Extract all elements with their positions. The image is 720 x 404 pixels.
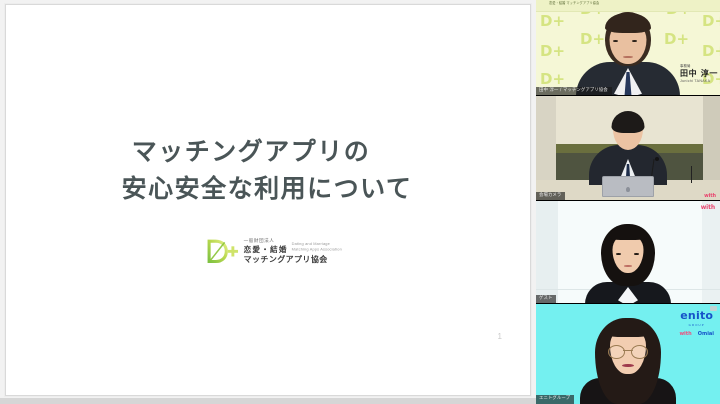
d-plus-logo-icon [206,238,239,265]
omiai-brand-logo-icon: Omiai [698,331,714,337]
eyeglasses-icon [608,345,648,357]
backdrop-logo-icon: D+ [664,32,689,47]
backdrop-logo-icon: D+ [540,44,565,59]
video-tile-2-media: with [536,96,720,201]
slide-title-line-2: 安心安全な利用について [6,170,530,207]
association-logo: 一般財団法人 恋愛・結婚 Dating and Marriage Matchin… [206,238,331,265]
tile-divider [536,303,720,304]
with-brand-logo-icon: with [701,204,715,211]
nameplate-name: 田中 淳一 [680,69,718,79]
slide-title: マッチングアプリの 安心安全な利用について [6,133,530,207]
enito-logo-text: enito [679,310,714,321]
video-tile-3[interactable]: with ゲスト [536,201,720,304]
backdrop-logo-icon: D+ [540,14,565,29]
logo-en-line-2: Matching Apps Association [292,247,342,252]
bottom-status-strip [0,398,536,404]
shared-screen-area[interactable]: マッチングアプリの 安心安全な利用について [0,0,536,404]
backdrop-logo-icon: D+ [702,44,720,59]
video-tile-4[interactable]: enito GROUP with Omiai [536,304,720,404]
tile-divider [536,95,720,96]
video-tile-2[interactable]: with 会場カメラ [536,96,720,201]
backdrop-logo-icon: D+ [702,14,720,29]
presentation-slide[interactable]: マッチングアプリの 安心安全な利用について [5,4,531,396]
enito-logo-subtext: GROUP [679,323,714,327]
with-brand-logo-icon: with [679,331,691,337]
enito-brand-lockup: enito GROUP with Omiai [679,310,714,337]
video-tile-1-media: D+ D+ D+ D+ D+ D+ D+ D+ D+ D+ D+ 恋愛・結婚 マ… [536,0,720,96]
video-tile-4-name-label: エニトグループ [536,395,574,404]
video-tile-3-media: with [536,201,720,304]
nameplate-roman: Junichi TANAKA [680,79,718,83]
on-screen-nameplate: 事務局 田中 淳一 Junichi TANAKA [680,64,718,83]
camera-indicator-icon [710,306,717,311]
tile-divider [536,200,720,201]
slide-title-line-1: マッチングアプリの [6,133,530,170]
participant-video-strip[interactable]: D+ D+ D+ D+ D+ D+ D+ D+ D+ D+ D+ 恋愛・結婚 マ… [536,0,720,404]
meeting-screen: マッチングアプリの 安心安全な利用について [0,0,720,404]
backdrop-logo-icon: D+ [540,72,565,87]
slide-page-number: 1 [498,332,502,341]
with-brand-logo-icon: with [704,193,716,199]
backdrop-logo-icon: D+ [580,32,605,47]
video-tile-4-media: enito GROUP with Omiai [536,304,720,404]
video-tile-1[interactable]: D+ D+ D+ D+ D+ D+ D+ D+ D+ D+ D+ 恋愛・結婚 マ… [536,0,720,96]
backdrop-banner-text: 恋愛・結婚 マッチングアプリ協会 [549,1,599,6]
logo-primary-text: 恋愛・結婚 [244,246,288,254]
logo-secondary-text: マッチングアプリ協会 [244,256,331,264]
